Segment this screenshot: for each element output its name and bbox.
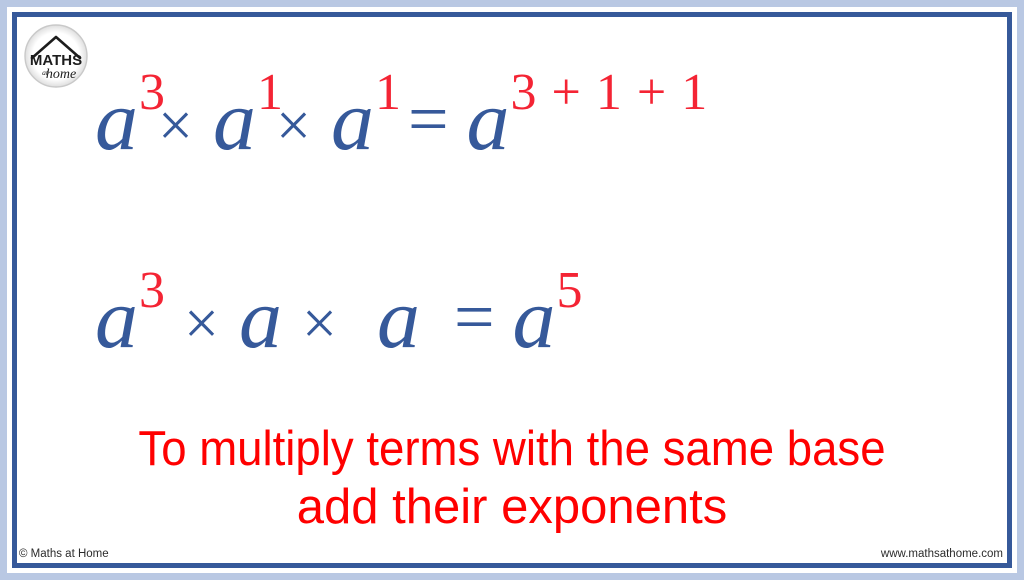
exponent-value: 5 <box>557 265 583 317</box>
exponent-value: 3 <box>139 67 165 119</box>
equals-operator: = <box>420 281 513 361</box>
exponent-sum-value: 3 + 1 + 1 <box>511 67 709 119</box>
base-variable: a <box>467 72 510 168</box>
base-variable: a <box>513 270 556 366</box>
term-a-pow-sum: a 3 + 1 + 1 <box>467 77 510 163</box>
caption-line-1: To multiply terms with the same base <box>52 421 973 479</box>
poster-canvas: MATHS at home a 3 × a 1 × a 1 = a <box>0 0 1024 580</box>
rule-caption: To multiply terms with the same base add… <box>17 421 1007 537</box>
caption-line-2: add their exponents <box>17 479 1007 537</box>
term-a-pow-3: a 3 <box>95 77 138 163</box>
base-variable: a <box>239 270 282 366</box>
website-url[interactable]: www.mathsathome.com <box>881 548 1003 560</box>
exponent-value: 1 <box>375 67 401 119</box>
exponent-value: 3 <box>139 265 165 317</box>
poster-content: MATHS at home a 3 × a 1 × a 1 = a <box>17 17 1007 563</box>
base-variable: a <box>377 270 420 366</box>
base-variable: a <box>95 72 138 168</box>
base-variable: a <box>213 72 256 168</box>
term-a-plain-second: a <box>377 275 420 361</box>
term-a-pow-1-second: a 1 <box>331 77 374 163</box>
copyright-notice: © Maths at Home <box>19 548 109 560</box>
equation-expanded-exponents: a 3 × a 1 × a 1 = a 3 + 1 + 1 <box>17 77 1007 163</box>
multiplication-operator: × <box>282 293 377 361</box>
term-a-plain-first: a <box>239 275 282 361</box>
term-a-pow-1-first: a 1 <box>213 77 256 163</box>
exponent-value: 1 <box>257 67 283 119</box>
equation-simplified: a 3 × a × a = a 5 <box>17 275 1007 361</box>
term-a-pow-5: a 5 <box>513 275 556 361</box>
base-variable: a <box>331 72 374 168</box>
base-variable: a <box>95 270 138 366</box>
term-a-pow-3: a 3 <box>95 275 138 361</box>
